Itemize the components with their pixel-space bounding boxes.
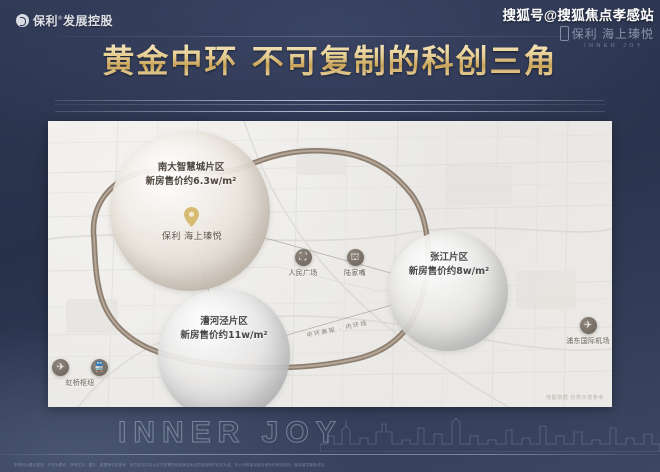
district-bubble-zhangjiang[interactable]	[388, 231, 508, 351]
district-name-zhangjiang: 张江片区	[388, 251, 510, 265]
project-logo-text: 保利 海上瑧悦	[572, 25, 654, 42]
district-price-zhangjiang: 新房售价约8w/m²	[388, 265, 510, 279]
footer-wordmark: INNER JOY	[118, 416, 343, 450]
airplane-icon: ✈	[580, 317, 597, 334]
poi-hongqiao-hub[interactable]: ✈ 🚆 虹桥枢纽	[48, 359, 116, 388]
title-divider-2	[55, 104, 605, 105]
footer-band: INNER JOY 本资料为要约邀请，不作为要约，所有文字、图片、数据等仅供参考…	[0, 410, 660, 472]
map-pin-icon[interactable]	[184, 207, 199, 227]
district-name-caohejing: 漕河泾片区	[156, 315, 292, 329]
footer-divider	[0, 454, 660, 455]
tower-icon: ⛫	[347, 249, 364, 266]
poi-label-hongqiao: 虹桥枢纽	[48, 378, 116, 388]
project-logo-glyph-icon	[560, 26, 569, 41]
poi-label-lujiazui: 陆家嘴	[325, 268, 385, 278]
map-credit: 地图数据 仅供示意参考	[546, 394, 604, 401]
airplane-icon: ✈	[52, 359, 69, 376]
title-block: 黄金中环 不可复制的科创三角	[0, 44, 660, 79]
district-label-zhangjiang: 张江片区 新房售价约8w/m²	[388, 251, 510, 280]
poi-label-pudong: 浦东国际机场	[558, 336, 612, 346]
project-pin-label: 保利 海上瑧悦	[134, 229, 250, 242]
poi-renmin-square[interactable]: ⛶ 人民广场	[273, 249, 333, 278]
brand-name: 保利®发展控股	[33, 12, 113, 29]
title-divider-3	[55, 111, 605, 112]
brand-suffix: 发展控股	[63, 14, 113, 28]
district-price-nanda: 新房售价约6.3w/m²	[126, 175, 256, 189]
district-name-nanda: 南大智慧城片区	[126, 161, 256, 175]
train-icon: 🚆	[91, 359, 108, 376]
skyline-illustration-icon	[320, 418, 660, 452]
district-label-nanda: 南大智慧城片区 新房售价约6.3w/m²	[126, 161, 256, 190]
poly-circle-logo-icon	[16, 14, 29, 27]
title-divider-1	[55, 100, 605, 101]
brand-logo: 保利®发展控股	[16, 12, 113, 29]
watermark-account: 搜狐号@搜狐焦点孝感站	[503, 4, 654, 24]
poi-lujiazui[interactable]: ⛫ 陆家嘴	[325, 249, 385, 278]
brand-name-text: 保利	[33, 14, 58, 28]
map-panel[interactable]: 南大智慧城片区 新房售价约6.3w/m² 张江片区 新房售价约8w/m² 漕河泾…	[48, 121, 612, 407]
poi-pudong-airport[interactable]: ✈ 浦东国际机场	[558, 317, 612, 346]
title-hairline-top	[55, 36, 605, 37]
district-label-caohejing: 漕河泾片区 新房售价约11w/m²	[156, 315, 292, 344]
project-logo: 保利 海上瑧悦	[503, 25, 654, 42]
footer-disclaimer: 本资料为要约邀请，不作为要约，所有文字、图片、数据等仅供参考，双方权利义务以双方…	[14, 463, 648, 468]
slide-canvas: 保利®发展控股 搜狐号@搜狐焦点孝感站 保利 海上瑧悦 INNER JOY 黄金…	[0, 0, 660, 472]
hongqiao-icon-pair: ✈ 🚆	[48, 359, 116, 376]
district-price-caohejing: 新房售价约11w/m²	[156, 329, 292, 343]
poi-label-renmin: 人民广场	[273, 268, 333, 278]
page-title: 黄金中环 不可复制的科创三角	[0, 44, 660, 79]
landmark-icon: ⛶	[295, 249, 312, 266]
